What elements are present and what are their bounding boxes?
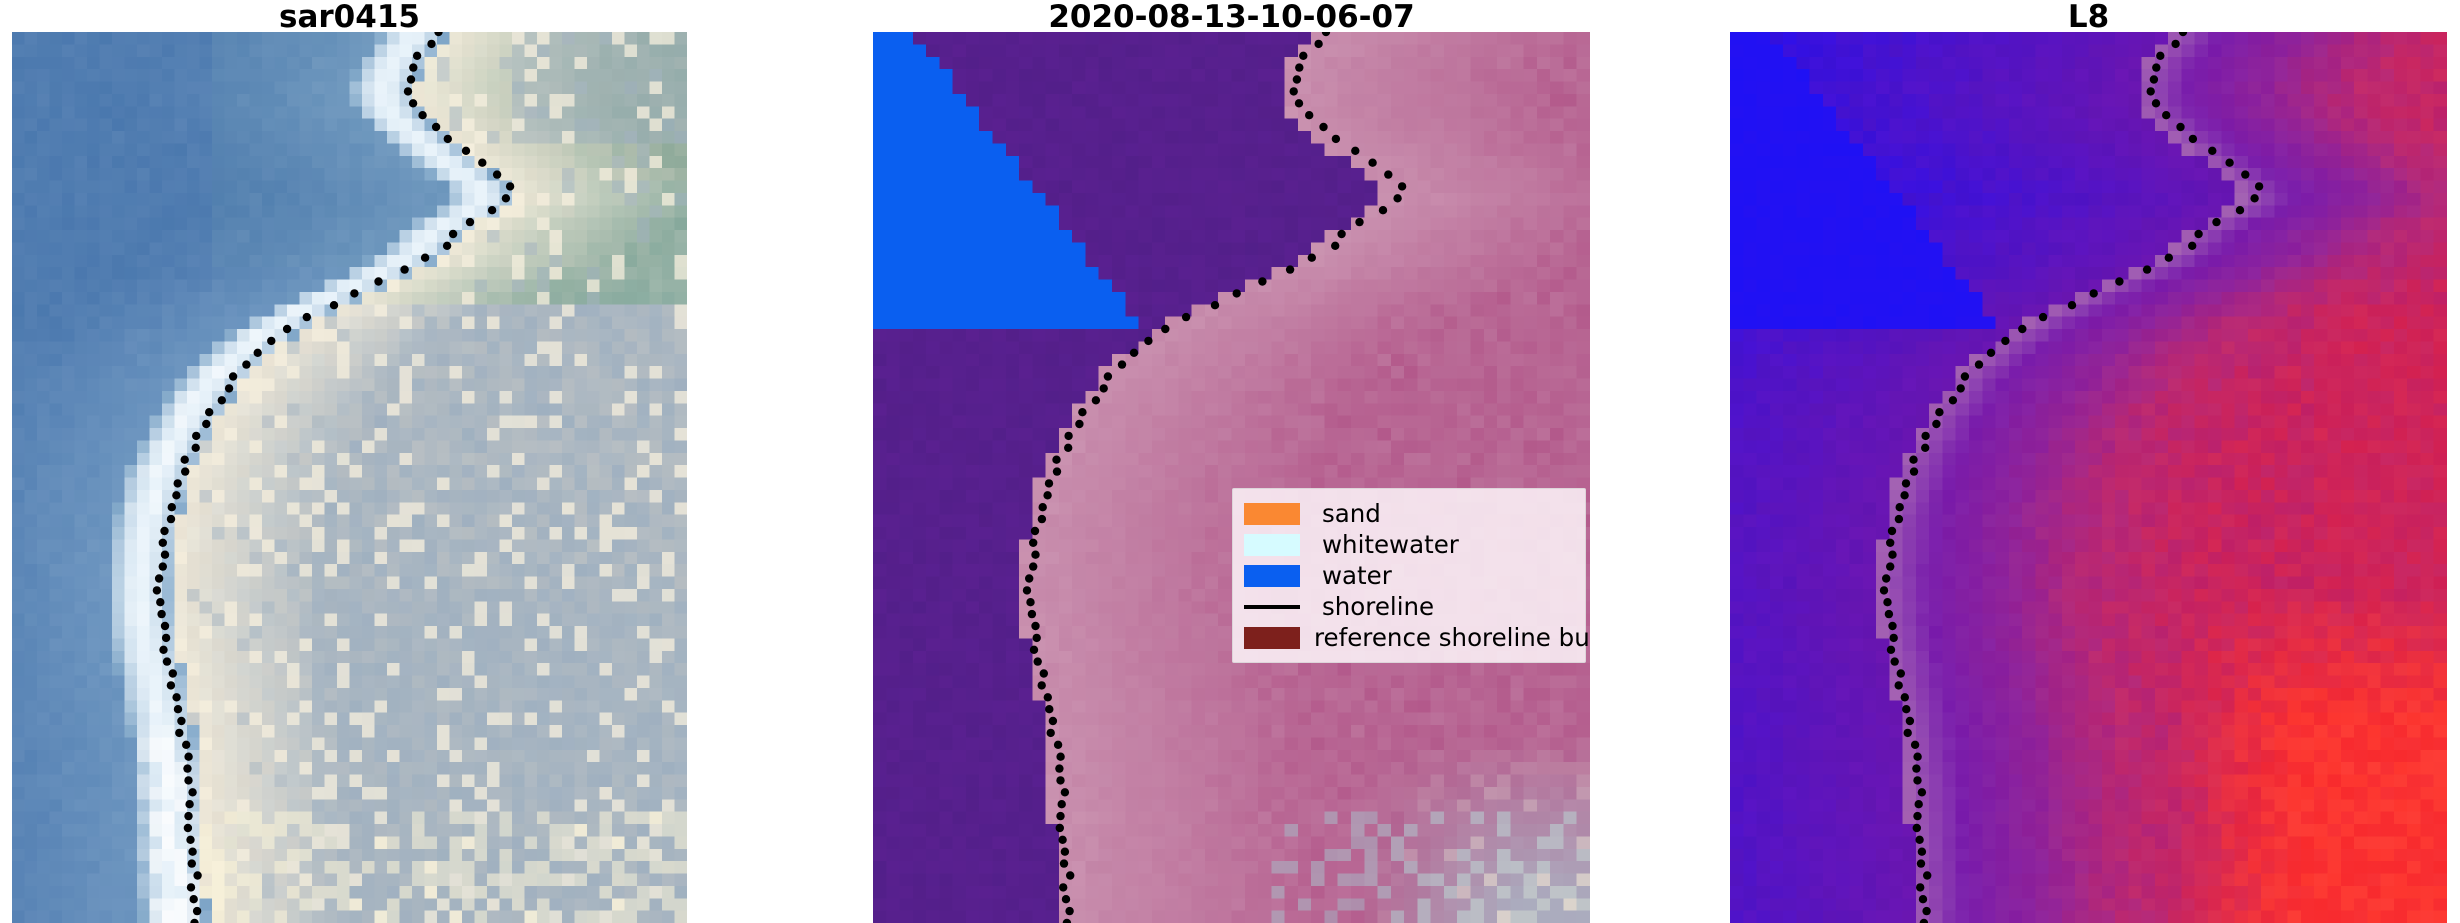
legend-item-reference-buffer: reference shoreline buffer [1244, 622, 1572, 653]
axes-sar0415 [12, 32, 687, 923]
shoreline-line-icon [1244, 605, 1300, 609]
legend-label-sand: sand [1322, 498, 1381, 529]
legend-item-shoreline: shoreline [1244, 591, 1572, 622]
panel-classified: 2020-08-13-10-06-07 sand whitewat [873, 0, 1590, 923]
legend-label-reference-buffer: reference shoreline buffer [1314, 622, 1590, 653]
legend-label-shoreline: shoreline [1322, 591, 1434, 622]
water-swatch-icon [1244, 565, 1300, 587]
panel-sar0415: sar0415 [12, 0, 687, 923]
panel-l8: L8 [1730, 0, 2447, 923]
panel-title-l8: L8 [1730, 2, 2447, 33]
legend-swatch-reference-buffer [1244, 622, 1300, 653]
legend-label-water: water [1322, 560, 1392, 591]
figure-root: sar0415 2020-08-13-10-06-07 sand [0, 0, 2460, 923]
legend-item-water: water [1244, 560, 1572, 591]
panel-title-classified: 2020-08-13-10-06-07 [873, 2, 1590, 33]
image-sar0415 [12, 32, 687, 923]
legend: sand whitewater water [1232, 488, 1586, 663]
legend-swatch-sand [1244, 498, 1308, 529]
legend-swatch-shoreline [1244, 591, 1308, 622]
legend-label-whitewater: whitewater [1322, 529, 1459, 560]
panel-title-sar0415: sar0415 [12, 2, 687, 33]
image-classified [873, 32, 1590, 923]
legend-swatch-whitewater [1244, 529, 1308, 560]
sand-swatch-icon [1244, 503, 1300, 525]
legend-item-whitewater: whitewater [1244, 529, 1572, 560]
reference-buffer-swatch-icon [1244, 627, 1300, 649]
whitewater-swatch-icon [1244, 534, 1300, 556]
legend-swatch-water [1244, 560, 1308, 591]
axes-classified: sand whitewater water [873, 32, 1590, 923]
image-l8 [1730, 32, 2447, 923]
legend-item-sand: sand [1244, 498, 1572, 529]
axes-l8 [1730, 32, 2447, 923]
